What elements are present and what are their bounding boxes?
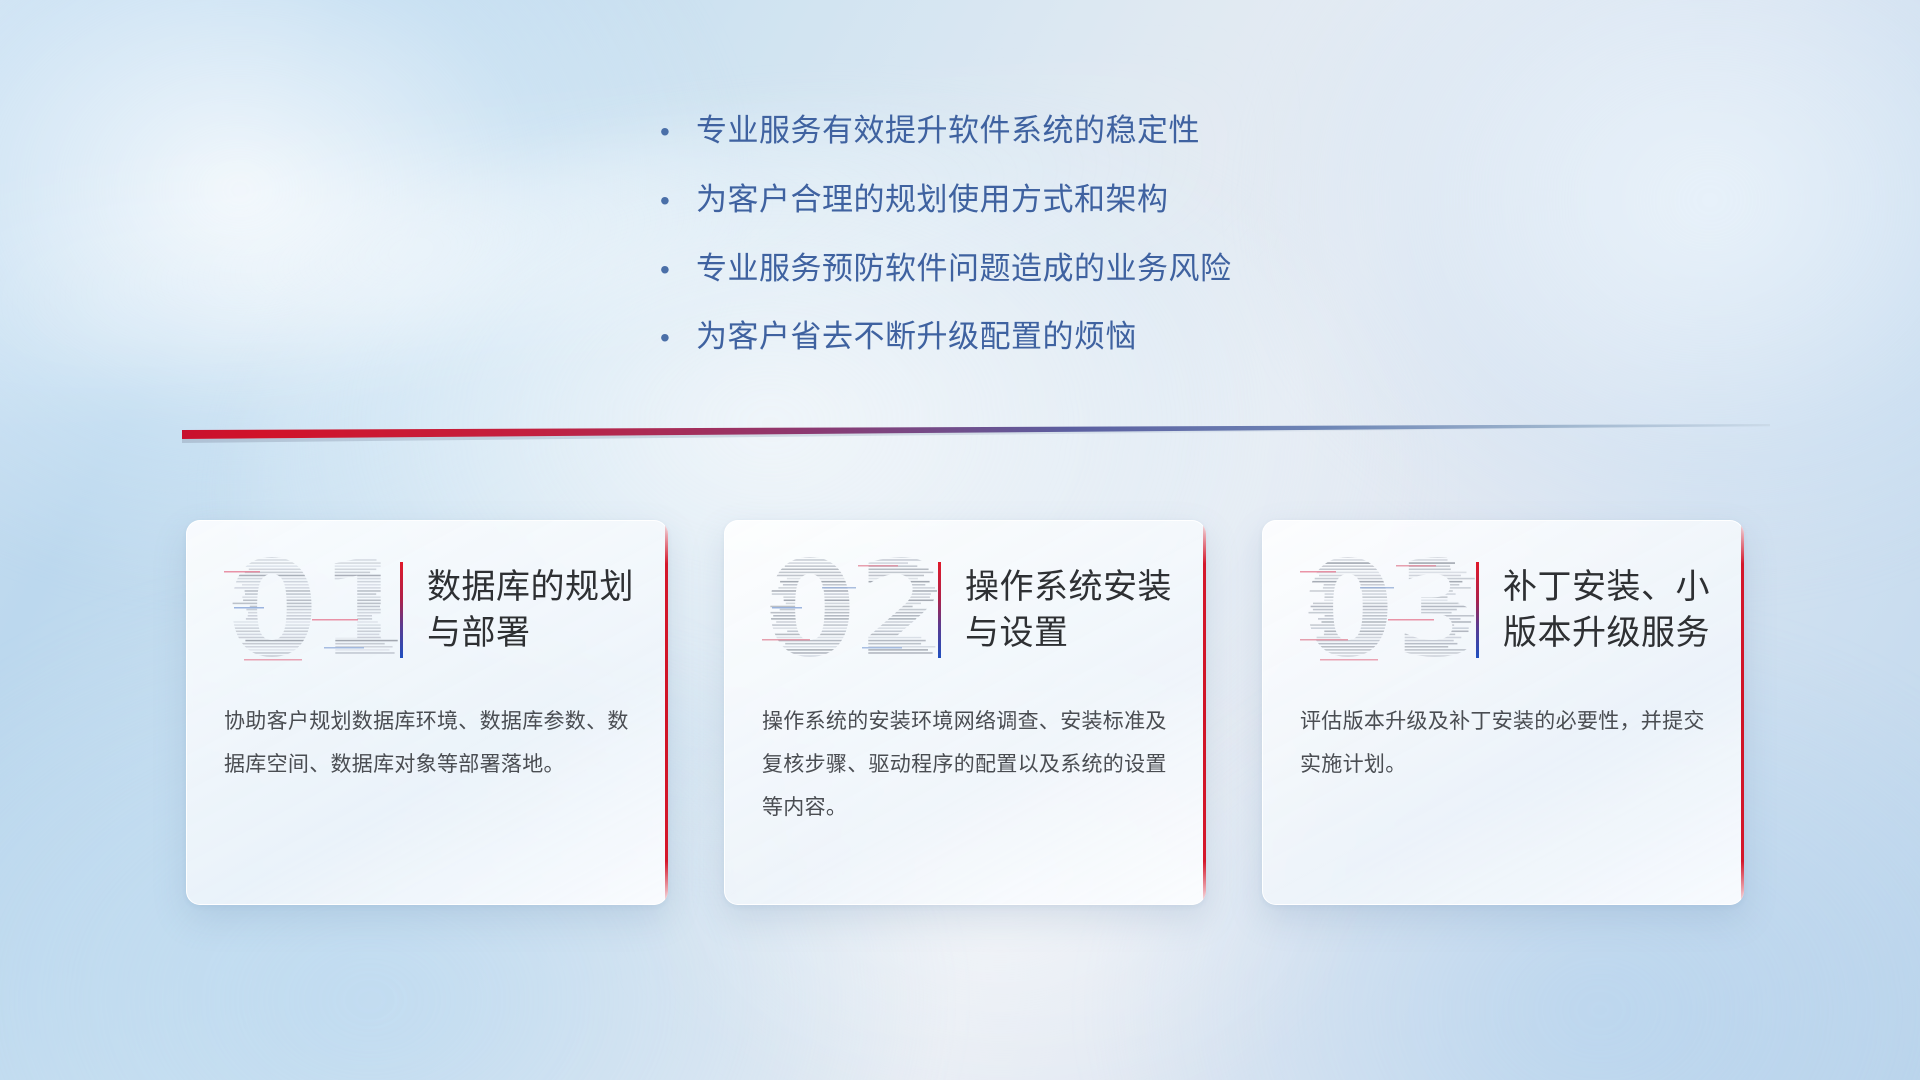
card-number-glyph: 02 — [762, 547, 938, 673]
card-header: 02操作系统安装与设置 — [724, 520, 1206, 700]
card-title: 补丁安装、小版本升级服务 — [1503, 564, 1710, 656]
service-card-list: 01数据库的规划与部署协助客户规划数据库环境、数据库参数、数据库空间、数据库对象… — [186, 520, 1744, 905]
card-title-line: 补丁安装、小 — [1503, 564, 1710, 610]
card-number: 01 — [224, 547, 400, 673]
bullet-dot-icon: • — [660, 118, 696, 146]
bullet-dot-icon: • — [660, 256, 696, 284]
card-title-divider — [938, 562, 941, 658]
card-number-glyph: 03 — [1300, 547, 1476, 673]
card-header: 01数据库的规划与部署 — [186, 520, 668, 700]
bullet-text: 为客户省去不断升级配置的烦恼 — [696, 318, 1137, 357]
card-header: 03补丁安装、小版本升级服务 — [1262, 520, 1744, 700]
section-divider — [182, 424, 1770, 446]
bullet-dot-icon: • — [660, 324, 696, 352]
card-title: 操作系统安装与设置 — [965, 564, 1172, 656]
card-body-text: 操作系统的安装环境网络调查、安装标准及复核步骤、驱动程序的配置以及系统的设置等内… — [724, 700, 1206, 829]
card-title: 数据库的规划与部署 — [427, 564, 634, 656]
background-glow-top-left — [0, 0, 740, 600]
slide-root: •专业服务有效提升软件系统的稳定性•为客户合理的规划使用方式和架构•专业服务预防… — [0, 0, 1920, 1080]
card-title-line: 数据库的规划 — [427, 564, 634, 610]
bullet-item: •专业服务有效提升软件系统的稳定性 — [660, 112, 1232, 151]
card-title-divider — [1476, 562, 1479, 658]
bullet-text: 专业服务有效提升软件系统的稳定性 — [696, 112, 1200, 151]
bullet-text: 专业服务预防软件问题造成的业务风险 — [696, 250, 1232, 289]
card-body-text: 协助客户规划数据库环境、数据库参数、数据库空间、数据库对象等部署落地。 — [186, 700, 668, 786]
card-body-text: 评估版本升级及补丁安装的必要性，并提交实施计划。 — [1262, 700, 1744, 786]
bullet-dot-icon: • — [660, 187, 696, 215]
card-number: 02 — [762, 547, 938, 673]
bullet-item: •专业服务预防软件问题造成的业务风险 — [660, 250, 1232, 289]
card-title-line: 与部署 — [427, 610, 634, 656]
bullet-item: •为客户省去不断升级配置的烦恼 — [660, 318, 1232, 357]
card-number: 03 — [1300, 547, 1476, 673]
service-card[interactable]: 03补丁安装、小版本升级服务评估版本升级及补丁安装的必要性，并提交实施计划。 — [1262, 520, 1744, 905]
bullet-item: •为客户合理的规划使用方式和架构 — [660, 181, 1232, 220]
card-title-line: 操作系统安装 — [965, 564, 1172, 610]
card-title-divider — [400, 562, 403, 658]
background-glow-top-right — [1260, 0, 1920, 580]
benefits-bullet-list: •专业服务有效提升软件系统的稳定性•为客户合理的规划使用方式和架构•专业服务预防… — [660, 112, 1232, 387]
service-card[interactable]: 01数据库的规划与部署协助客户规划数据库环境、数据库参数、数据库空间、数据库对象… — [186, 520, 668, 905]
bullet-text: 为客户合理的规划使用方式和架构 — [696, 181, 1169, 220]
card-title-line: 与设置 — [965, 610, 1172, 656]
section-divider-shape — [182, 424, 1770, 446]
service-card[interactable]: 02操作系统安装与设置操作系统的安装环境网络调查、安装标准及复核步骤、驱动程序的… — [724, 520, 1206, 905]
card-title-line: 版本升级服务 — [1503, 610, 1710, 656]
card-number-glyph: 01 — [224, 547, 400, 673]
